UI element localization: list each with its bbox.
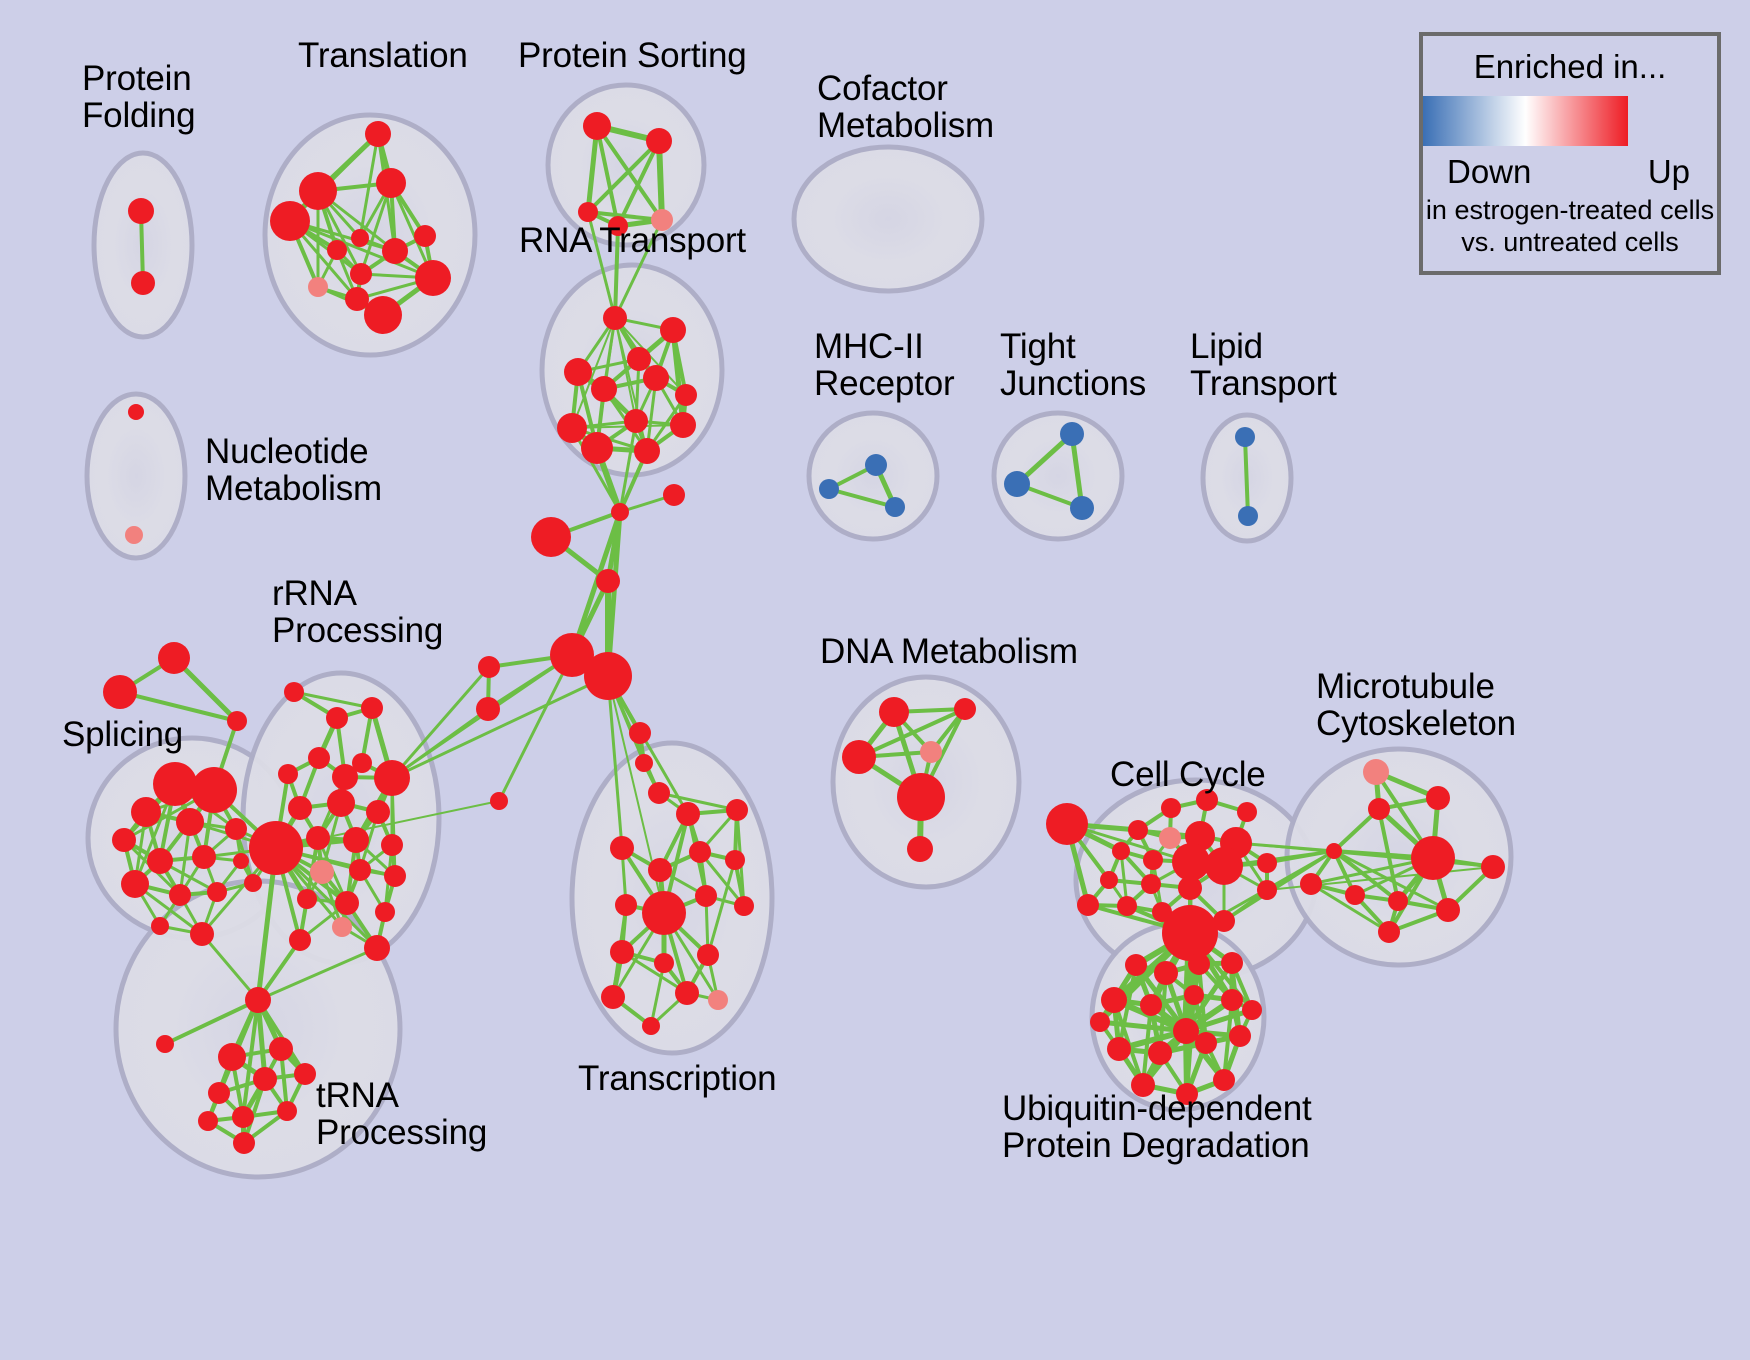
network-node[interactable] (689, 841, 711, 863)
cluster-label-line: Protein (82, 60, 195, 97)
network-node[interactable] (376, 168, 406, 198)
network-node[interactable] (1195, 1032, 1217, 1054)
network-node[interactable] (1229, 1025, 1251, 1047)
cluster-hull (809, 413, 937, 539)
legend-caption-line-2: vs. untreated cells (1423, 227, 1717, 257)
legend-down-label: Down (1447, 153, 1531, 191)
network-node[interactable] (299, 172, 337, 210)
cluster-label-line: rRNA (272, 575, 443, 612)
network-node[interactable] (660, 317, 686, 343)
cluster-label-protein-folding: ProteinFolding (82, 60, 195, 135)
network-node[interactable] (1300, 873, 1322, 895)
network-node[interactable] (381, 834, 403, 856)
network-node[interactable] (208, 1082, 230, 1104)
network-node[interactable] (158, 642, 190, 674)
network-node[interactable] (1143, 850, 1163, 870)
network-node[interactable] (153, 762, 197, 806)
network-node[interactable] (624, 409, 648, 433)
network-node[interactable] (414, 225, 436, 247)
network-node[interactable] (232, 1106, 254, 1128)
network-node[interactable] (207, 882, 227, 902)
network-node[interactable] (725, 850, 745, 870)
network-node[interactable] (332, 917, 352, 937)
network-node[interactable] (169, 884, 191, 906)
network-node[interactable] (1112, 842, 1130, 860)
network-node[interactable] (920, 741, 942, 763)
network-node[interactable] (578, 202, 598, 222)
network-node[interactable] (249, 821, 303, 875)
network-node[interactable] (190, 922, 214, 946)
network-node[interactable] (734, 896, 754, 916)
network-node[interactable] (1060, 422, 1084, 446)
network-node[interactable] (1090, 1012, 1110, 1032)
network-node[interactable] (1172, 843, 1210, 881)
network-node[interactable] (675, 384, 697, 406)
network-node[interactable] (1235, 427, 1255, 447)
legend-endpoints: Down Up (1450, 153, 1690, 193)
network-node[interactable] (156, 1035, 174, 1053)
cluster-hull (794, 147, 982, 291)
network-node[interactable] (1237, 802, 1257, 822)
network-node[interactable] (125, 526, 143, 544)
network-node[interactable] (1213, 1069, 1235, 1091)
network-node[interactable] (1205, 847, 1243, 885)
network-node[interactable] (233, 853, 249, 869)
cluster-label-line: MHC-II (814, 328, 954, 365)
network-node[interactable] (1481, 855, 1505, 879)
cluster-label-rna-transport: RNA Transport (519, 222, 746, 259)
network-node[interactable] (112, 828, 136, 852)
network-node[interactable] (1363, 759, 1389, 785)
cluster-label-line: Microtubule (1316, 668, 1516, 705)
network-node[interactable] (364, 935, 390, 961)
network-node[interactable] (297, 889, 317, 909)
network-node[interactable] (1378, 921, 1400, 943)
network-node[interactable] (1070, 496, 1094, 520)
network-node[interactable] (374, 760, 410, 796)
network-node[interactable] (1077, 894, 1099, 916)
legend-box: Enriched in... Down Up in estrogen-treat… (1419, 32, 1721, 275)
cluster-label-line: Ubiquitin-dependent (1002, 1090, 1312, 1127)
network-node[interactable] (343, 827, 369, 853)
network-node[interactable] (326, 707, 348, 729)
network-node[interactable] (490, 792, 508, 810)
cluster-label-nucleotide-metabolism: NucleotideMetabolism (205, 433, 382, 508)
network-node[interactable] (350, 263, 372, 285)
network-node[interactable] (1368, 798, 1390, 820)
network-node[interactable] (610, 940, 634, 964)
cluster-label-line: Cell Cycle (1110, 756, 1266, 793)
network-node[interactable] (131, 797, 161, 827)
cluster-label-trna-processing: tRNAProcessing (316, 1077, 487, 1152)
network-node[interactable] (897, 773, 945, 821)
legend-title: Enriched in... (1423, 48, 1717, 86)
network-node[interactable] (1159, 827, 1181, 849)
cluster-label-line: Protein Degradation (1002, 1127, 1312, 1164)
network-node[interactable] (646, 128, 672, 154)
network-node[interactable] (629, 722, 651, 744)
legend-colorbar (1423, 96, 1628, 146)
network-node[interactable] (147, 848, 173, 874)
network-node[interactable] (176, 808, 204, 836)
network-node[interactable] (581, 432, 613, 464)
network-node[interactable] (345, 287, 369, 311)
network-node[interactable] (591, 376, 617, 402)
network-node[interactable] (865, 454, 887, 476)
network-node[interactable] (610, 836, 634, 860)
network-node[interactable] (244, 874, 262, 892)
network-node[interactable] (1140, 994, 1162, 1016)
network-node[interactable] (1221, 952, 1243, 974)
network-node[interactable] (366, 800, 390, 824)
network-node[interactable] (648, 858, 672, 882)
network-node[interactable] (676, 802, 700, 826)
cluster-label-ubiquitin-protein-degradation: Ubiquitin-dependentProtein Degradation (1002, 1090, 1312, 1165)
network-node[interactable] (635, 754, 653, 772)
cluster-label-line: Splicing (62, 716, 183, 753)
cluster-label-transcription: Transcription (578, 1060, 776, 1097)
cluster-label-line: Cytoskeleton (1316, 705, 1516, 742)
cluster-label-line: Junctions (1000, 365, 1146, 402)
network-node[interactable] (1004, 471, 1030, 497)
network-node[interactable] (375, 902, 395, 922)
network-node[interactable] (233, 1132, 255, 1154)
network-node[interactable] (198, 1111, 218, 1131)
network-node[interactable] (131, 271, 155, 295)
enrichment-network-figure: ProteinFoldingTranslationProtein Sorting… (0, 0, 1750, 1360)
network-node[interactable] (1221, 989, 1243, 1011)
network-node[interactable] (1178, 876, 1202, 900)
network-node[interactable] (1326, 843, 1342, 859)
cluster-label-line: Folding (82, 97, 195, 134)
cluster-label-line: Cofactor (817, 70, 994, 107)
network-node[interactable] (1161, 798, 1181, 818)
network-node[interactable] (121, 870, 149, 898)
network-node[interactable] (288, 796, 312, 820)
network-node[interactable] (654, 953, 674, 973)
network-node[interactable] (245, 987, 271, 1013)
network-node[interactable] (349, 859, 371, 881)
network-node[interactable] (648, 782, 670, 804)
network-node[interactable] (627, 347, 651, 371)
cluster-label-line: Tight (1000, 328, 1146, 365)
network-node[interactable] (596, 569, 620, 593)
legend-caption-line-1: in estrogen-treated cells (1423, 195, 1717, 225)
cluster-label-dna-metabolism: DNA Metabolism (820, 633, 1078, 670)
network-node[interactable] (615, 894, 637, 916)
network-node[interactable] (361, 697, 383, 719)
network-node[interactable] (476, 697, 500, 721)
network-node[interactable] (1100, 871, 1118, 889)
network-node[interactable] (1128, 820, 1148, 840)
network-node[interactable] (270, 201, 310, 241)
network-node[interactable] (128, 198, 154, 224)
cluster-label-line: Transport (1190, 365, 1337, 402)
cluster-label-rrna-processing: rRNAProcessing (272, 575, 443, 650)
network-node[interactable] (253, 1067, 277, 1091)
cluster-label-line: Protein Sorting (518, 37, 747, 74)
cluster-label-line: DNA Metabolism (820, 633, 1078, 670)
network-node[interactable] (1238, 506, 1258, 526)
network-node[interactable] (1426, 786, 1450, 810)
network-node[interactable] (1257, 853, 1277, 873)
network-node[interactable] (327, 240, 347, 260)
cluster-label-line: Metabolism (205, 470, 382, 507)
network-node[interactable] (310, 860, 334, 884)
network-node[interactable] (695, 885, 717, 907)
cluster-label-microtubule-cytoskeleton: MicrotubuleCytoskeleton (1316, 668, 1516, 743)
cluster-label-translation: Translation (298, 37, 468, 74)
cluster-label-line: Processing (272, 612, 443, 649)
network-node[interactable] (1411, 836, 1455, 880)
network-node[interactable] (103, 675, 137, 709)
network-node[interactable] (1141, 874, 1161, 894)
network-node[interactable] (708, 990, 728, 1010)
cluster-label-line: Lipid (1190, 328, 1337, 365)
network-node[interactable] (663, 484, 685, 506)
network-node[interactable] (284, 682, 304, 702)
network-node[interactable] (1107, 1037, 1131, 1061)
network-node[interactable] (277, 1101, 297, 1121)
network-node[interactable] (364, 296, 402, 334)
cluster-label-line: Receptor (814, 365, 954, 402)
network-node[interactable] (351, 229, 369, 247)
network-node[interactable] (415, 260, 451, 296)
cluster-label-protein-sorting: Protein Sorting (518, 37, 747, 74)
network-node[interactable] (603, 306, 627, 330)
network-node[interactable] (327, 789, 355, 817)
network-node[interactable] (227, 711, 247, 731)
network-node[interactable] (306, 826, 330, 850)
network-node[interactable] (1188, 953, 1210, 975)
network-node[interactable] (1345, 885, 1365, 905)
network-node[interactable] (384, 865, 406, 887)
network-node[interactable] (1162, 905, 1218, 961)
network-node[interactable] (1173, 1018, 1199, 1044)
network-node[interactable] (308, 277, 328, 297)
cluster-label-line: Metabolism (817, 107, 994, 144)
network-node[interactable] (225, 818, 247, 840)
network-node[interactable] (642, 1017, 660, 1035)
network-node[interactable] (192, 845, 216, 869)
network-node[interactable] (670, 412, 696, 438)
network-node[interactable] (531, 517, 571, 557)
network-node[interactable] (1388, 891, 1408, 911)
network-node[interactable] (1148, 1041, 1172, 1065)
cluster-label-line: tRNA (316, 1077, 487, 1114)
network-node[interactable] (1046, 803, 1088, 845)
network-edge (392, 676, 608, 778)
network-node[interactable] (584, 652, 632, 700)
network-node[interactable] (879, 697, 909, 727)
network-node[interactable] (907, 836, 933, 862)
cluster-label-cofactor-metabolism: CofactorMetabolism (817, 70, 994, 145)
network-node[interactable] (1436, 898, 1460, 922)
cluster-label-line: Translation (298, 37, 468, 74)
network-node[interactable] (634, 438, 660, 464)
network-node[interactable] (601, 985, 625, 1009)
cluster-label-tight-junctions: TightJunctions (1000, 328, 1146, 403)
network-node[interactable] (1213, 910, 1235, 932)
network-node[interactable] (1125, 954, 1147, 976)
network-node[interactable] (885, 497, 905, 517)
network-node[interactable] (1242, 1000, 1262, 1020)
network-node[interactable] (564, 358, 592, 386)
network-node[interactable] (611, 503, 629, 521)
network-node[interactable] (1101, 987, 1127, 1013)
cluster-label-line: Processing (316, 1114, 487, 1151)
network-node[interactable] (697, 944, 719, 966)
network-node[interactable] (278, 764, 298, 784)
cluster-label-line: Nucleotide (205, 433, 382, 470)
network-node[interactable] (128, 404, 144, 420)
network-node[interactable] (642, 891, 686, 935)
network-node[interactable] (308, 747, 330, 769)
network-node[interactable] (151, 917, 169, 935)
network-node[interactable] (289, 929, 311, 951)
cluster-label-lipid-transport: LipidTransport (1190, 328, 1337, 403)
network-node[interactable] (819, 479, 839, 499)
network-node[interactable] (1257, 880, 1277, 900)
network-node[interactable] (218, 1043, 246, 1071)
network-node[interactable] (583, 112, 611, 140)
cluster-label-cell-cycle: Cell Cycle (1110, 756, 1266, 793)
network-node[interactable] (954, 698, 976, 720)
network-node[interactable] (557, 413, 587, 443)
network-node[interactable] (478, 656, 500, 678)
network-node[interactable] (675, 981, 699, 1005)
cluster-label-splicing: Splicing (62, 716, 183, 753)
network-node[interactable] (335, 891, 359, 915)
network-node[interactable] (1184, 985, 1204, 1005)
network-node[interactable] (1117, 896, 1137, 916)
cluster-label-line: Transcription (578, 1060, 776, 1097)
network-node[interactable] (1154, 961, 1178, 985)
cluster-label-line: RNA Transport (519, 222, 746, 259)
network-node[interactable] (294, 1063, 316, 1085)
network-node[interactable] (726, 799, 748, 821)
legend-up-label: Up (1648, 153, 1690, 191)
network-node[interactable] (269, 1037, 293, 1061)
network-node[interactable] (382, 238, 408, 264)
network-node[interactable] (643, 365, 669, 391)
network-node[interactable] (191, 767, 237, 813)
network-node[interactable] (842, 740, 876, 774)
network-node[interactable] (332, 764, 358, 790)
cluster-label-mhc-ii-receptor: MHC-IIReceptor (814, 328, 954, 403)
network-node[interactable] (365, 121, 391, 147)
